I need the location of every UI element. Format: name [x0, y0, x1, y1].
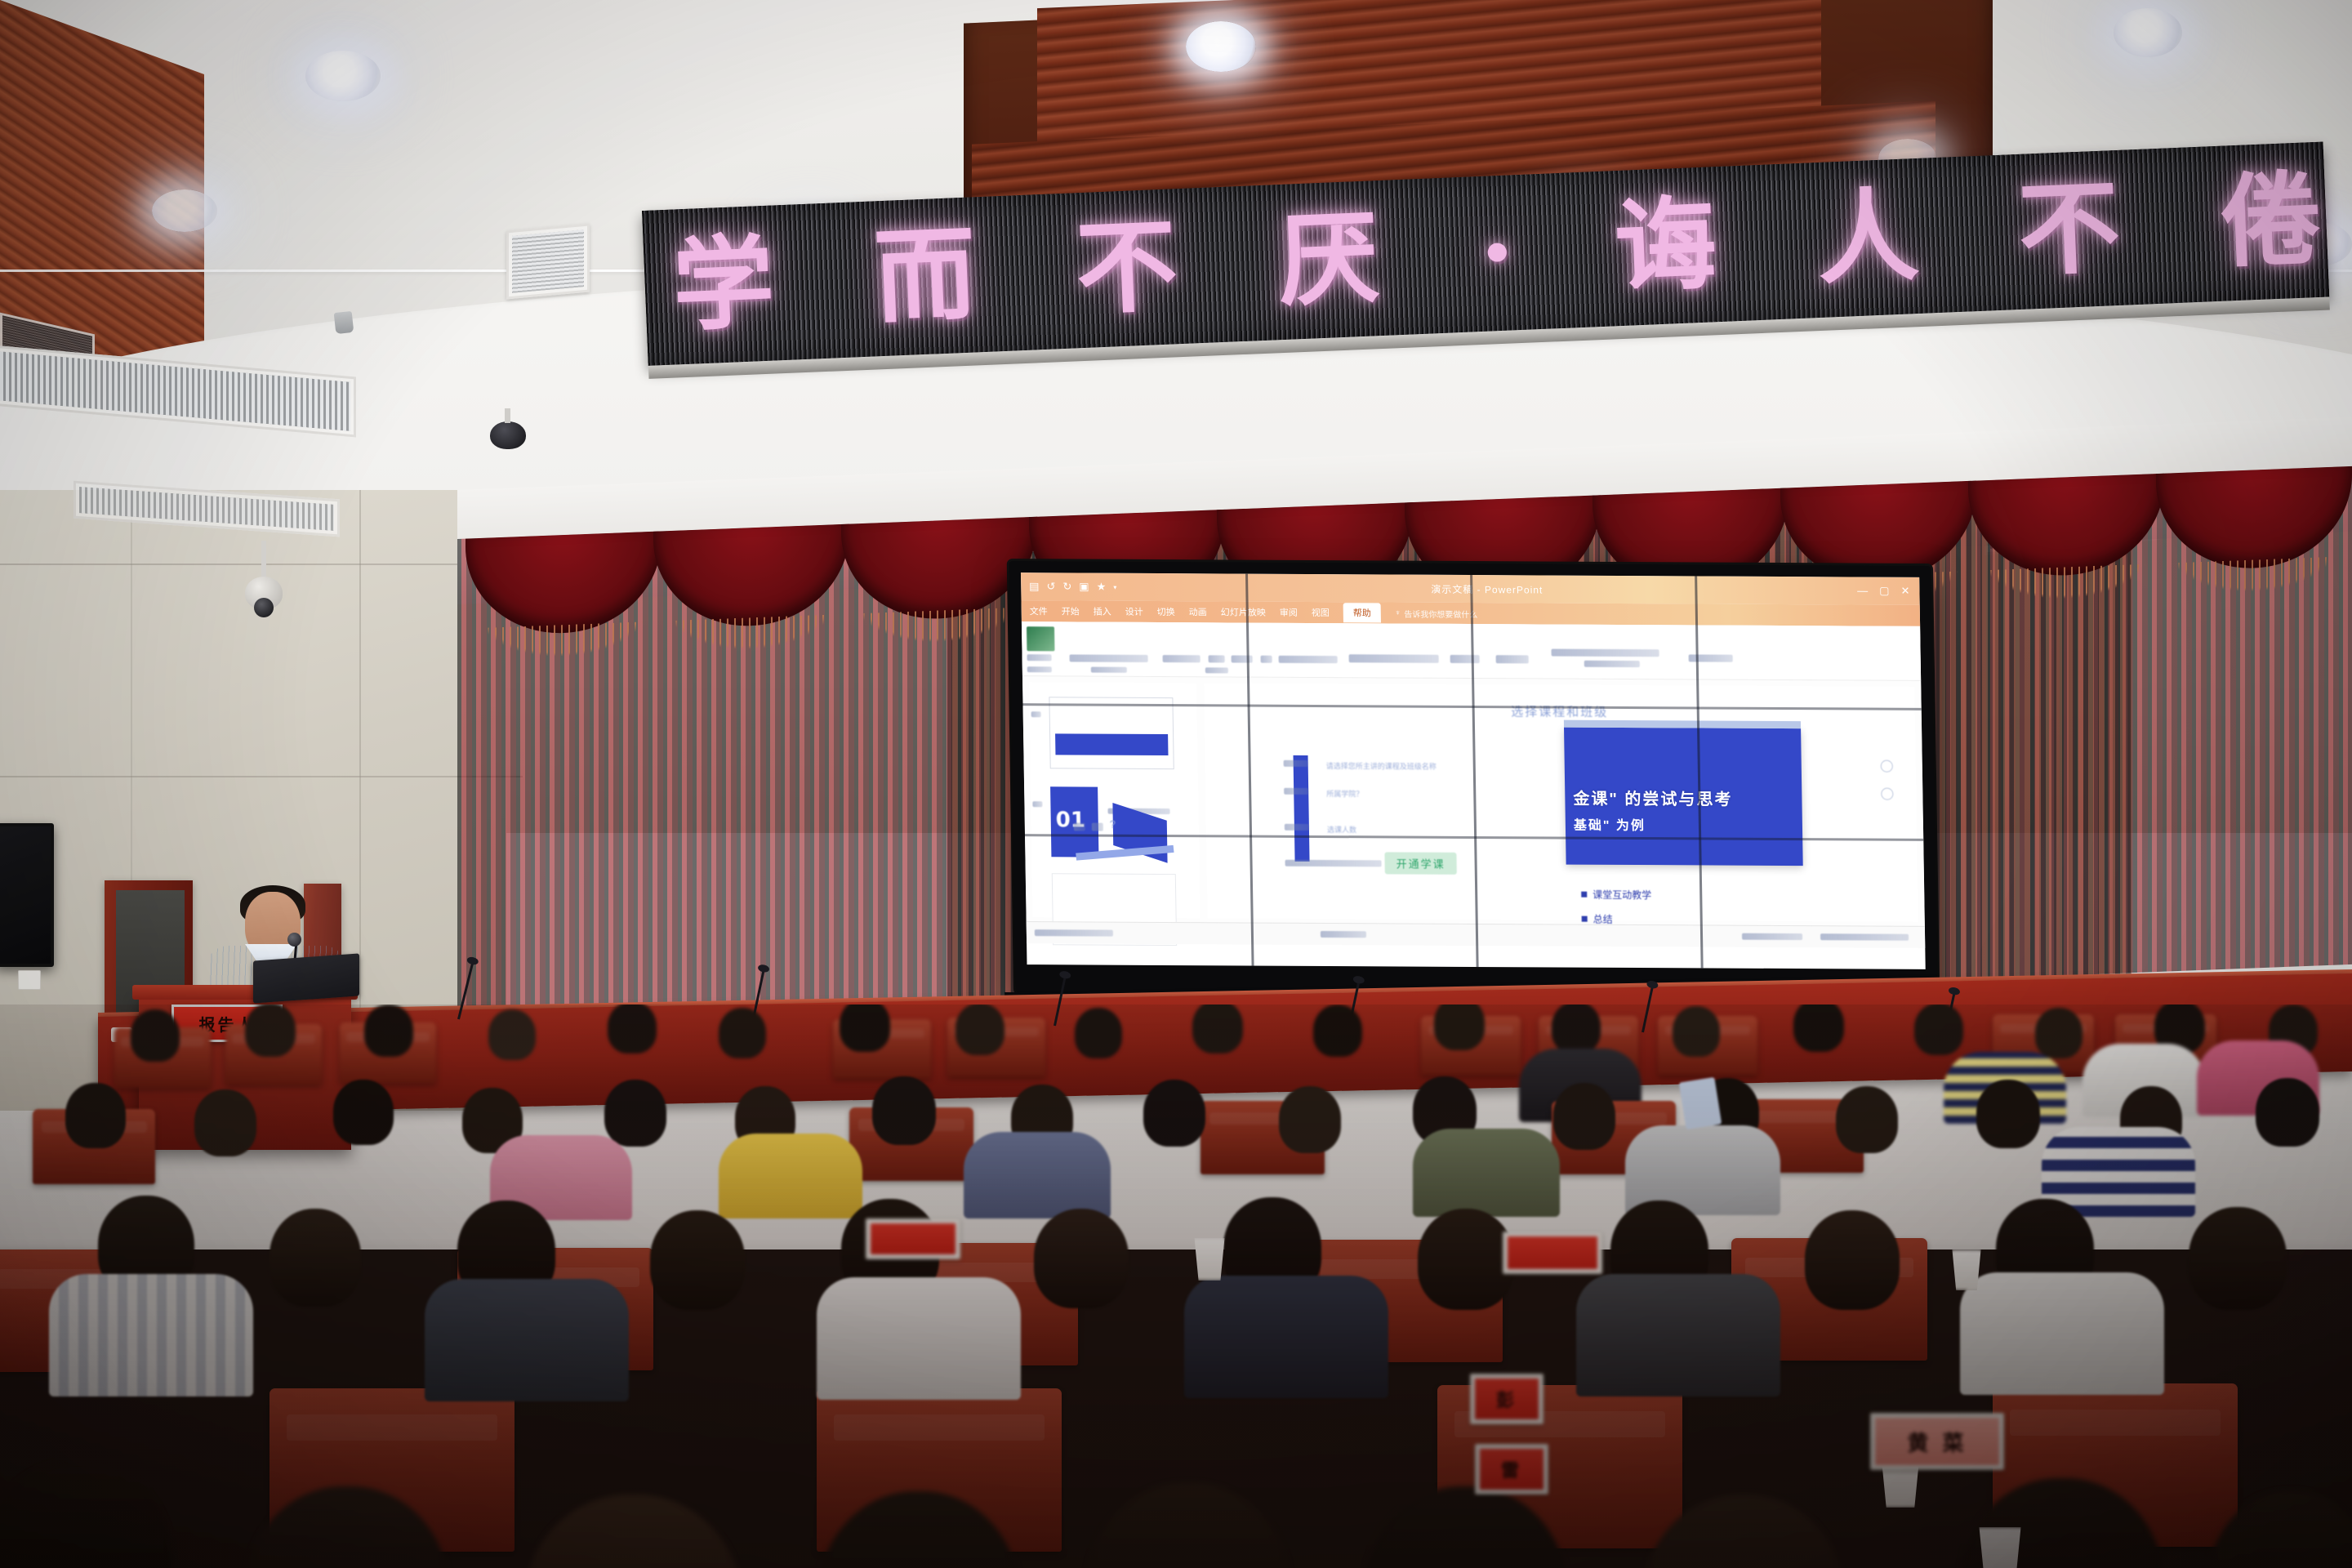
- audience-head: [1075, 1008, 1122, 1058]
- tab-animations[interactable]: 动画: [1189, 605, 1207, 618]
- audience-head: [1434, 1004, 1485, 1050]
- audience-shoulders: [49, 1274, 253, 1396]
- paper-cup: [1192, 1238, 1227, 1281]
- wall-seam: [0, 776, 523, 777]
- window-controls[interactable]: — ▢ ✕: [1857, 585, 1919, 598]
- wall-seam: [359, 490, 361, 1062]
- lecture-hall-photo: 学 而 不 厌 · 诲 人 不 倦: [0, 0, 2352, 1568]
- audience-head: [608, 1004, 657, 1053]
- audience-head: [269, 1209, 361, 1307]
- podium-microphone-head: [287, 933, 301, 947]
- form-label: [1284, 788, 1308, 795]
- audience-head: [1552, 1004, 1601, 1053]
- audience-head: [364, 1004, 413, 1057]
- blue-card-line2: 基础" 为例: [1574, 813, 1646, 833]
- blue-title-card: 金课" 的尝试与思考 基础" 为例: [1564, 728, 1803, 866]
- arrange-group[interactable]: [1496, 655, 1529, 663]
- thumbnail-title-band: [1055, 733, 1168, 755]
- underline-icon[interactable]: [1261, 656, 1272, 663]
- audience-head: [1086, 1483, 1290, 1568]
- audience-head: [872, 1076, 936, 1145]
- clipboard-label: [1027, 666, 1052, 672]
- powerpoint-status-bar[interactable]: [1027, 921, 1926, 948]
- zoom-slider[interactable]: [1820, 933, 1909, 941]
- stepper-down-icon[interactable]: [1881, 788, 1893, 800]
- ceiling-downlight: [305, 51, 381, 101]
- audience-head: [2256, 1078, 2319, 1147]
- audience-head: [523, 1494, 743, 1568]
- ribbon-command-row[interactable]: [1022, 621, 1921, 681]
- slide-number: [1031, 711, 1041, 717]
- audience-shoulders: [1576, 1274, 1780, 1396]
- blue-card-line1: 金课" 的尝试与思考: [1573, 785, 1733, 809]
- video-wall-screen[interactable]: ▤ ↺ ↻ ▣ ★ ▾ 演示文稿 - PowerPoint — ▢ ✕ 登录 文…: [1021, 572, 1926, 969]
- dome-camera-stem: [505, 408, 510, 423]
- tab-view[interactable]: 视图: [1312, 606, 1330, 619]
- tab-design[interactable]: 设计: [1125, 605, 1143, 618]
- podium-laptop[interactable]: [253, 953, 359, 1003]
- audience-head: [0, 1462, 171, 1568]
- paste-icon[interactable]: [1027, 626, 1054, 651]
- tab-help[interactable]: 帮助: [1343, 603, 1381, 622]
- tell-me-box[interactable]: ♆ 告诉我你想要做什么: [1395, 607, 1478, 620]
- redo-icon[interactable]: ↻: [1062, 580, 1071, 593]
- ceiling-downlight: [2114, 8, 2182, 57]
- slide-thumbnail-pane[interactable]: 01: [1029, 682, 1200, 918]
- audience-phone: [1679, 1077, 1722, 1129]
- ptz-camera-lens: [254, 598, 274, 617]
- font-name[interactable]: [1163, 655, 1200, 662]
- ptz-camera-arm: [261, 541, 266, 580]
- present-icon[interactable]: ▣: [1079, 581, 1089, 594]
- audience-head: [719, 1008, 766, 1058]
- slide-canvas[interactable]: 选择课程和班级 请选择您所主讲的课程及班级名称 所属学院？ 选课人数 开通学课: [1204, 683, 1918, 922]
- tab-insert[interactable]: 插入: [1094, 605, 1111, 618]
- form-row: 所属学院？: [1326, 788, 1363, 799]
- ceiling-downlight: [152, 189, 217, 232]
- audience-head: [1836, 1086, 1898, 1153]
- editing-group[interactable]: [1689, 654, 1733, 661]
- audience-head: [1418, 1209, 1514, 1310]
- audience-head: [1313, 1004, 1362, 1057]
- shapes-gallery[interactable]: [1450, 655, 1480, 663]
- align-group[interactable]: [1349, 654, 1439, 663]
- paper-cup: [1976, 1527, 2024, 1568]
- audience-shoulders: [719, 1134, 862, 1218]
- quick-styles[interactable]: [1584, 661, 1640, 667]
- paste-label: [1027, 654, 1052, 661]
- star-icon[interactable]: ★: [1097, 581, 1107, 594]
- bullet-item: 课堂互动教学: [1592, 888, 1651, 902]
- audience-shoulders: [817, 1277, 1021, 1400]
- form-label: [1285, 824, 1309, 831]
- audience-head: [1793, 1004, 1844, 1052]
- tab-transitions[interactable]: 切换: [1157, 605, 1175, 618]
- drawing-group[interactable]: [1552, 649, 1659, 657]
- seat-name-card-label: 黄 菜: [1907, 1427, 1967, 1457]
- audience-head: [1805, 1210, 1900, 1310]
- audience-head: [1192, 1004, 1243, 1053]
- audience-shoulders: [1960, 1272, 2164, 1395]
- audience-head: [1914, 1004, 1963, 1055]
- status-notes[interactable]: [1321, 931, 1366, 938]
- paragraph-group[interactable]: [1279, 656, 1338, 663]
- audience-head: [2189, 1207, 2287, 1310]
- audience-head: [131, 1009, 180, 1062]
- powerpoint-workspace[interactable]: 01 选择课程和班级 请选择您所主讲的课程及班级名称 所属学院？ 选课人数: [1022, 621, 1925, 948]
- audience-shoulders: [1184, 1276, 1388, 1398]
- video-wall[interactable]: ▤ ↺ ↻ ▣ ★ ▾ 演示文稿 - PowerPoint — ▢ ✕ 登录 文…: [1009, 561, 1938, 997]
- minimize-icon[interactable]: —: [1857, 585, 1868, 598]
- audience-head: [1673, 1006, 1720, 1057]
- tab-slideshow[interactable]: 幻灯片放映: [1221, 605, 1266, 618]
- open-course-button[interactable]: 开通学课: [1384, 852, 1456, 874]
- form-row: 选课人数: [1327, 824, 1356, 835]
- dome-camera: [490, 421, 526, 449]
- font-size[interactable]: [1209, 655, 1225, 662]
- ceiling-square-vent: [506, 224, 590, 300]
- tab-review[interactable]: 审阅: [1280, 606, 1298, 619]
- audience-head: [333, 1080, 394, 1145]
- slide-heading: 选择课程和班级: [1511, 702, 1608, 720]
- powerpoint-title-bar: ▤ ↺ ↻ ▣ ★ ▾ 演示文稿 - PowerPoint — ▢ ✕: [1021, 572, 1920, 605]
- audience-shoulders: [964, 1132, 1111, 1218]
- audience-area: 李石新 黄 菜 彭 雷: [0, 1004, 2352, 1568]
- bold-italic-group[interactable]: [1232, 655, 1253, 662]
- audience-head: [604, 1080, 666, 1147]
- undo-icon[interactable]: ↺: [1046, 580, 1055, 593]
- audience-head: [1976, 1080, 2040, 1148]
- sprinkler-head: [334, 311, 354, 334]
- audience-head: [1034, 1209, 1129, 1308]
- audience-shoulders: [425, 1279, 629, 1401]
- list-item[interactable]: [1049, 697, 1174, 769]
- ceiling-downlight: [1186, 21, 1256, 72]
- lightbulb-icon: ♆: [1395, 608, 1401, 617]
- slide-illustration: ?: [1067, 806, 1190, 872]
- audience-head: [840, 1004, 890, 1052]
- wall-power-outlet: [18, 970, 41, 990]
- slides-label: [1091, 667, 1127, 673]
- form-row: 请选择您所主讲的课程及班级名称: [1326, 760, 1437, 772]
- seat-name-card: 雷: [1475, 1444, 1548, 1494]
- tab-home[interactable]: 开始: [1062, 604, 1080, 617]
- form-label: [1284, 760, 1308, 767]
- tell-me-label: 告诉我你想要做什么: [1404, 607, 1477, 619]
- status-slide-count: [1035, 929, 1113, 937]
- seat-name-card: [1503, 1232, 1602, 1274]
- ptz-camera: [245, 577, 283, 629]
- audience-head: [955, 1004, 1004, 1055]
- window-title: 演示文稿 - PowerPoint: [1116, 580, 1857, 598]
- blue-card-top-band: [1564, 720, 1801, 729]
- seat-name-card: 黄 菜: [1870, 1413, 2004, 1470]
- seat-name-card-label: 彭: [1496, 1386, 1517, 1412]
- tab-file[interactable]: 文件: [1030, 604, 1048, 617]
- form-footnote: [1285, 860, 1382, 867]
- audience-head: [245, 1004, 296, 1057]
- audience-head: [488, 1009, 536, 1060]
- close-icon[interactable]: ✕: [1900, 585, 1909, 598]
- font-label: [1205, 667, 1228, 673]
- audience-head: [1279, 1086, 1341, 1153]
- audience-head: [1143, 1080, 1205, 1147]
- audience-head: [650, 1210, 745, 1310]
- slide-number: [1032, 801, 1042, 807]
- new-slide-label[interactable]: [1070, 654, 1148, 662]
- save-icon[interactable]: ▤: [1029, 580, 1040, 593]
- seat-name-card-label: 雷: [1501, 1456, 1522, 1482]
- stepper-up-icon[interactable]: [1881, 760, 1893, 773]
- maximize-icon[interactable]: ▢: [1879, 585, 1890, 598]
- view-buttons[interactable]: [1742, 933, 1802, 940]
- audience-head: [2035, 1008, 2082, 1058]
- audience-head: [65, 1083, 126, 1148]
- slide-accent-bar: [1294, 755, 1310, 862]
- audience-head: [194, 1089, 256, 1156]
- audience-head: [1553, 1083, 1615, 1150]
- seat-name-card: 彭: [1470, 1374, 1543, 1424]
- wall-mounted-tv: [0, 823, 54, 967]
- audience-shoulders: [1413, 1129, 1560, 1217]
- quick-access-toolbar[interactable]: ▤ ↺ ↻ ▣ ★ ▾: [1021, 580, 1116, 594]
- seat-name-card: [866, 1218, 960, 1259]
